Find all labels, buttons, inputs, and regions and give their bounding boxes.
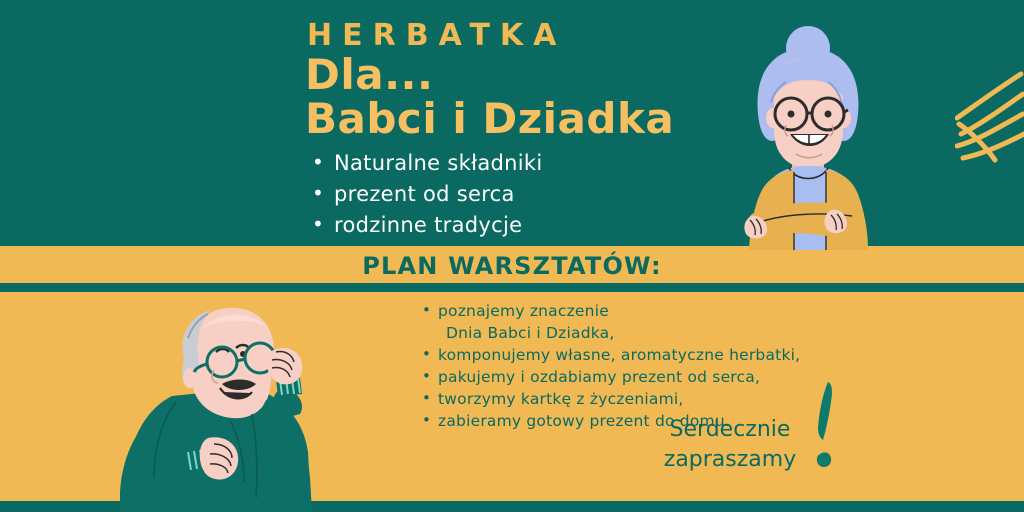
agenda-item-text: poznajemy znaczenie: [438, 302, 609, 320]
hero-bullet-list: Naturalne składniki prezent od serca rod…: [312, 148, 732, 241]
agenda-list: poznajemy znaczenie Dnia Babci i Dziadka…: [420, 300, 980, 432]
hero-bullet-item: Naturalne składniki: [312, 148, 732, 179]
agenda-item-continuation: Dnia Babci i Dziadka,: [438, 322, 980, 344]
agenda-item: pakujemy i ozdabiamy prezent od serca,: [420, 366, 980, 388]
headline-kicker: HERBATKA: [307, 20, 765, 52]
headline-block: HERBATKA Dla... Babci i Dziadka: [305, 20, 765, 141]
agenda-item: komponujemy własne, aromatyczne herbatki…: [420, 344, 980, 366]
banner-heading: PLAN WARSZTATÓW:: [0, 252, 1024, 280]
hero-bullet-item: rodzinne tradycje: [312, 210, 732, 241]
invitation-line-1: Serdecznie: [670, 417, 791, 442]
exclamation-mark-icon: [806, 378, 850, 474]
scribble-burst-icon: [955, 60, 1024, 184]
divider-rule-green: [0, 283, 1024, 292]
headline-line-1: Dla...: [305, 54, 765, 97]
agenda-item: poznajemy znaczenie Dnia Babci i Dziadka…: [420, 300, 980, 344]
hero-bullet-item: prezent od serca: [312, 179, 732, 210]
poster-canvas: HERBATKA Dla... Babci i Dziadka Naturaln…: [0, 0, 1024, 512]
grandfather-illustration: [110, 292, 335, 512]
headline-line-2: Babci i Dziadka: [305, 98, 765, 141]
agenda-item: tworzymy kartkę z życzeniami,: [420, 388, 980, 410]
